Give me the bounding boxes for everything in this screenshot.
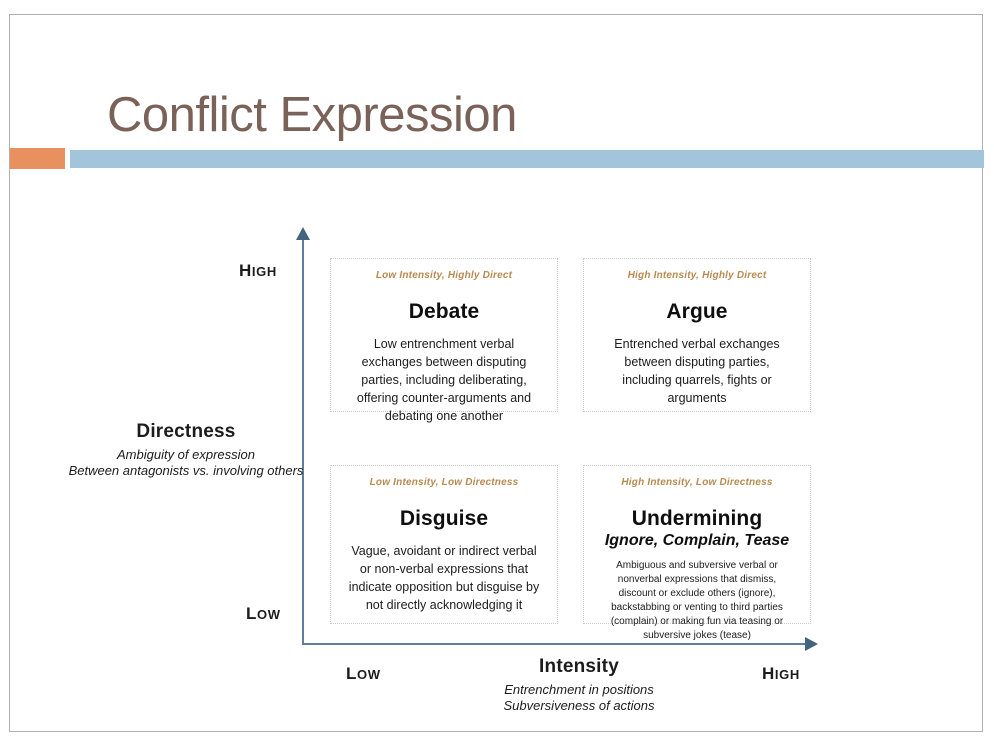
x-axis-low-label: LOW	[346, 664, 381, 684]
y-axis-high-label-text: IGH	[252, 264, 277, 279]
y-axis-low-label: LOW	[246, 604, 281, 624]
y-axis-arrow-icon	[296, 227, 310, 240]
y-axis-high-label: HIGH	[239, 261, 277, 281]
quadrant-title: Argue	[598, 300, 796, 324]
quadrant-debate: Low Intensity, Highly Direct Debate Low …	[330, 258, 558, 412]
slide-canvas: Conflict Expression HIGH LOW LOW HIGH Di…	[9, 14, 983, 732]
y-axis-title: Directness	[55, 421, 317, 443]
y-axis-subtitle-line-2: Between antagonists vs. involving others	[55, 463, 317, 479]
quadrant-caption: Low Intensity, Low Directness	[345, 477, 543, 488]
accent-bar-blue	[70, 150, 984, 168]
quadrant-title: Debate	[345, 300, 543, 324]
x-axis-subtitle-line-1: Entrenchment in positions	[444, 682, 714, 698]
x-axis-title-block: Intensity Entrenchment in positions Subv…	[444, 656, 714, 714]
y-axis-subtitle-line-1: Ambiguity of expression	[55, 447, 317, 463]
quadrant-disguise: Low Intensity, Low Directness Disguise V…	[330, 465, 558, 624]
quadrant-argue: High Intensity, Highly Direct Argue Entr…	[583, 258, 811, 412]
x-axis-subtitle: Entrenchment in positions Subversiveness…	[444, 682, 714, 714]
quadrant-body: Vague, avoidant or indirect verbal or no…	[345, 542, 543, 614]
quadrant-body: Ambiguous and subversive verbal or nonve…	[598, 559, 796, 643]
x-axis-arrow-icon	[805, 637, 818, 651]
x-axis-subtitle-line-2: Subversiveness of actions	[444, 698, 714, 714]
quadrant-body: Low entrenchment verbal exchanges betwee…	[345, 335, 543, 425]
quadrant-subtitle: Ignore, Complain, Tease	[598, 532, 796, 550]
y-axis-subtitle: Ambiguity of expression Between antagoni…	[55, 447, 317, 479]
x-axis-line	[302, 643, 809, 645]
x-axis-high-label: HIGH	[762, 664, 800, 684]
quadrant-caption: High Intensity, Highly Direct	[598, 270, 796, 281]
quadrant-caption: Low Intensity, Highly Direct	[345, 270, 543, 281]
quadrant-body: Entrenched verbal exchanges between disp…	[598, 335, 796, 407]
quadrant-title: Disguise	[345, 507, 543, 531]
page-title: Conflict Expression	[107, 87, 517, 143]
quadrant-title: Undermining	[598, 507, 796, 531]
quadrant-caption: High Intensity, Low Directness	[598, 477, 796, 488]
x-axis-title: Intensity	[444, 656, 714, 678]
quadrant-undermining: High Intensity, Low Directness Undermini…	[583, 465, 811, 624]
accent-bar-orange	[10, 148, 65, 169]
y-axis-title-block: Directness Ambiguity of expression Betwe…	[55, 421, 317, 479]
